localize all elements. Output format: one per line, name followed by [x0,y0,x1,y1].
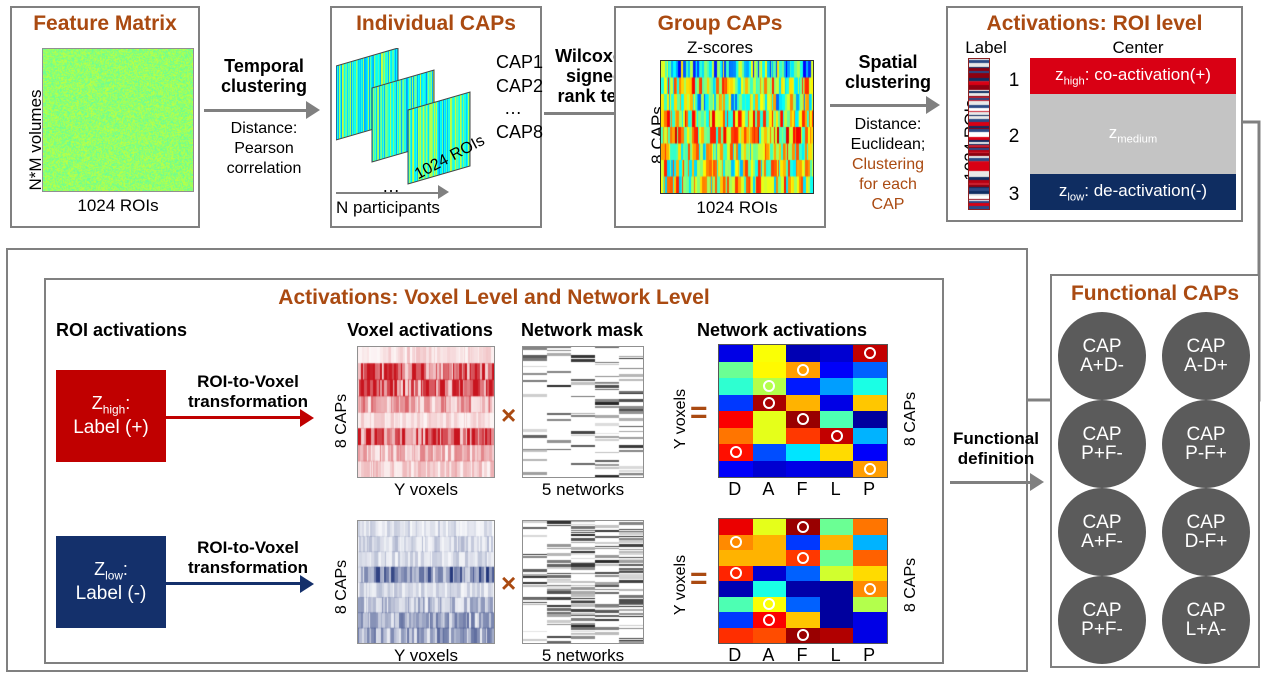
heatmap-cell [786,345,820,362]
heatmap-marker [864,583,876,595]
network-column-label: P [852,645,886,666]
network-column-label: F [785,645,819,666]
voxel-neg-xlabel: Y voxels [357,646,495,666]
heatmap-cell [820,411,854,428]
network-column-label: L [819,479,853,500]
roi-level-label-header: Label [952,38,1020,58]
functional-cap-line1: CAP [1184,337,1228,356]
heatmap-cell [853,566,887,582]
roi-row-high: zhigh: co-activation(+) [1030,58,1236,94]
functional-cap-line1: CAP [1081,513,1123,532]
arrow-functional-definition [950,481,1032,484]
heatmap-cell [820,378,854,395]
heatmap-cell [753,519,787,535]
arrow-n-participants-head [438,185,449,199]
heatmap-cell [853,411,887,428]
heatmap-cell [753,444,787,461]
spatial-clustering-note-line1: Clustering [828,156,948,174]
heatmap-cell [853,535,887,551]
arrow-temporal-clustering-head [306,101,320,119]
functional-cap-line2: A+D- [1080,356,1124,375]
functional-cap-circle[interactable]: CAPA+D- [1058,312,1146,400]
heatmap-marker [730,536,742,548]
heatmap-cell [820,581,854,597]
spatial-distance-line2: Euclidean; [828,136,948,154]
heatmap-marker [797,552,809,564]
network-column-label: L [819,645,853,666]
heatmap-cell [820,362,854,379]
functional-cap-line2: P+F- [1081,444,1123,463]
heatmap-cell [853,444,887,461]
network-pos-ylabel: Y voxels [672,374,690,464]
roi-row-index-1: 1 [1004,70,1024,92]
functional-cap-line1: CAP [1185,425,1227,444]
functional-cap-line1: CAP [1080,337,1124,356]
heatmap-cell [820,628,854,644]
network-neg-right-ylabel: 8 CAPs [902,540,920,630]
roi-row-index-3: 3 [1004,184,1024,206]
roi-level-title: Activations: ROI level [946,12,1243,36]
temporal-clustering-label-line1: Temporal [202,56,326,77]
roi-row-index-2: 2 [1004,126,1024,148]
functional-cap-line1: CAP [1186,601,1227,620]
individual-caps-xlabel: N participants [336,198,440,218]
arrow-roi-to-voxel-negative [166,582,302,585]
header-voxel-activations: Voxel activations [330,320,510,341]
feature-matrix-heatmap [42,48,194,192]
heatmap-cell [753,628,787,644]
voxel-activations-negative [357,520,495,644]
heatmap-cell [820,566,854,582]
heatmap-cell [719,550,753,566]
functional-cap-line2: D-F+ [1185,532,1228,551]
mask-neg-xlabel: 5 networks [522,646,644,666]
roi-row-high-text: zhigh: co-activation(+) [1055,65,1211,87]
heatmap-cell [820,535,854,551]
functional-cap-circle[interactable]: CAPP+F- [1058,576,1146,664]
functional-definition-line2: definition [948,449,1044,469]
voxel-activations-positive [357,346,495,478]
roi-center-rows: 1 zhigh: co-activation(+) 2 zmedium 3 zl… [1004,58,1236,210]
heatmap-cell [719,461,753,478]
heatmap-marker [730,446,742,458]
heatmap-cell [853,628,887,644]
arrow-n-participants [336,192,440,194]
heatmap-marker [797,521,809,533]
heatmap-cell [753,581,787,597]
heatmap-cell [719,597,753,613]
z-high-label-box: Zhigh: Label (+) [56,370,166,462]
feature-matrix-title: Feature Matrix [10,12,200,36]
individual-caps-title: Individual CAPs [330,12,542,36]
mask-pos-xlabel: 5 networks [522,480,644,500]
heatmap-cell [786,612,820,628]
heatmap-cell [753,550,787,566]
functional-cap-line2: P+F- [1081,620,1123,639]
roi-to-voxel-label-pos-line1: ROI-to-Voxel [168,372,328,392]
heatmap-cell [719,411,753,428]
functional-cap-circle[interactable]: CAPP+F- [1058,400,1146,488]
network-activations-negative-heatmap [718,518,888,644]
network-column-label: D [718,645,752,666]
roi-label-strip [968,58,990,210]
header-network-activations: Network activations [672,320,892,341]
heatmap-cell [786,581,820,597]
heatmap-cell [820,395,854,412]
voxel-network-panel-title: Activations: Voxel Level and Network Lev… [44,286,944,310]
heatmap-cell [753,345,787,362]
network-column-label: P [852,479,886,500]
heatmap-cell [853,612,887,628]
functional-caps-grid: CAPA+D-CAPA-D+CAPP+F-CAPP-F+CAPA+F-CAPD-… [1056,312,1254,660]
heatmap-cell [786,378,820,395]
heatmap-cell [820,444,854,461]
heatmap-cell [853,428,887,445]
functional-caps-title: Functional CAPs [1050,282,1260,306]
heatmap-cell [853,597,887,613]
multiply-symbol-negative: × [501,568,516,599]
functional-cap-line1: CAP [1081,601,1123,620]
arrow-functional-definition-head [1030,473,1044,491]
heatmap-cell [753,566,787,582]
functional-cap-line2: P-F+ [1185,444,1227,463]
functional-cap-line1: CAP [1185,513,1228,532]
heatmap-cell [753,461,787,478]
heatmap-cell [820,461,854,478]
voxel-pos-ylabel: 8 CAPs [333,376,351,466]
z-high-symbol: Zhigh: [92,393,130,417]
heatmap-cell [853,378,887,395]
group-caps-sublabel: Z-scores [614,38,826,58]
arrow-roi-to-voxel-negative-head [300,575,314,593]
functional-cap-circle[interactable]: CAPD-F+ [1162,488,1250,576]
z-high-label-text: Label (+) [73,417,149,439]
network-column-label: F [785,479,819,500]
heatmap-cell [853,550,887,566]
voxel-neg-ylabel: 8 CAPs [333,542,351,632]
multiply-symbol-positive: × [501,400,516,431]
heatmap-cell [753,411,787,428]
functional-cap-circle[interactable]: CAPA-D+ [1162,312,1250,400]
temporal-distance-line3: correlation [202,160,326,178]
individual-caps-label-dots: … [504,98,522,119]
equals-symbol-negative: = [690,562,708,596]
network-neg-column-labels: DAFLP [718,645,888,667]
network-mask-positive [522,346,644,478]
heatmap-cell [719,378,753,395]
heatmap-cell [786,428,820,445]
arrow-roi-to-voxel-positive-head [300,409,314,427]
temporal-distance-line2: Pearson [202,140,326,158]
heatmap-cell [719,612,753,628]
functional-cap-line1: CAP [1081,425,1123,444]
heatmap-cell [786,535,820,551]
heatmap-cell [786,566,820,582]
network-pos-column-labels: DAFLP [718,479,888,501]
temporal-clustering-label-line2: clustering [202,76,326,97]
heatmap-marker [864,463,876,475]
heatmap-cell [753,535,787,551]
heatmap-cell [719,628,753,644]
heatmap-cell [719,345,753,362]
feature-matrix-xlabel: 1024 ROIs [42,196,194,216]
individual-caps-label-cap2: CAP2 [496,76,543,97]
heatmap-cell [786,444,820,461]
spatial-distance-line1: Distance: [828,116,948,134]
functional-cap-circle[interactable]: CAPL+A- [1162,576,1250,664]
spatial-clustering-label-line1: Spatial [828,52,948,73]
heatmap-marker [831,430,843,442]
z-low-label-box: Zlow: Label (-) [56,536,166,628]
arrow-roi-to-voxel-positive [166,416,302,419]
group-caps-heatmap [660,60,814,194]
z-low-label-text: Label (-) [76,583,147,605]
functional-definition-line1: Functional [948,429,1044,449]
functional-cap-line2: A+F- [1081,532,1123,551]
heatmap-cell [753,362,787,379]
arrow-spatial-clustering-head [926,96,940,114]
heatmap-marker [797,364,809,376]
functional-cap-line2: A-D+ [1184,356,1228,375]
individual-caps-label-cap1: CAP1 [496,52,543,73]
heatmap-cell [753,428,787,445]
heatmap-cell [853,395,887,412]
network-mask-negative [522,520,644,644]
z-low-symbol: Zlow: [94,559,128,583]
roi-row-medium: zmedium [1030,94,1236,174]
heatmap-cell [719,395,753,412]
heatmap-marker [730,567,742,579]
heatmap-cell [719,428,753,445]
heatmap-cell [820,550,854,566]
spatial-clustering-label-line2: clustering [828,72,948,93]
spatial-clustering-note-line3: CAP [828,196,948,214]
header-roi-activations: ROI activations [56,320,187,341]
temporal-distance-line1: Distance: [202,120,326,138]
functional-cap-line2: L+A- [1186,620,1227,639]
network-pos-right-ylabel: 8 CAPs [902,374,920,464]
group-caps-title: Group CAPs [614,12,826,36]
heatmap-cell [820,519,854,535]
heatmap-cell [820,345,854,362]
network-column-label: A [752,479,786,500]
functional-cap-circle[interactable]: CAPA+F- [1058,488,1146,576]
functional-cap-circle[interactable]: CAPP-F+ [1162,400,1250,488]
network-column-label: A [752,645,786,666]
network-column-label: D [718,479,752,500]
heatmap-cell [719,581,753,597]
group-caps-xlabel: 1024 ROIs [660,198,814,218]
arrow-temporal-clustering [204,109,308,112]
roi-level-center-header: Center [1040,38,1236,58]
heatmap-cell [786,597,820,613]
arrow-spatial-clustering [830,104,928,107]
heatmap-cell [853,519,887,535]
heatmap-cell [719,362,753,379]
heatmap-cell [853,362,887,379]
roi-row-low-text: zlow: de-activation(-) [1059,181,1207,203]
roi-row-low: zlow: de-activation(-) [1030,174,1236,210]
network-activations-positive-heatmap [718,344,888,478]
roi-to-voxel-label-neg-line1: ROI-to-Voxel [168,538,328,558]
heatmap-cell [786,461,820,478]
equals-symbol-positive: = [690,396,708,430]
heatmap-cell [786,395,820,412]
heatmap-cell [719,519,753,535]
individual-caps-label-cap8: CAP8 [496,122,543,143]
spatial-clustering-note-line2: for each [828,176,948,194]
voxel-pos-xlabel: Y voxels [357,480,495,500]
network-neg-ylabel: Y voxels [672,540,690,630]
heatmap-cell [820,597,854,613]
roi-row-medium-text: zmedium [1109,123,1157,145]
header-network-mask: Network mask [512,320,652,341]
heatmap-cell [820,612,854,628]
